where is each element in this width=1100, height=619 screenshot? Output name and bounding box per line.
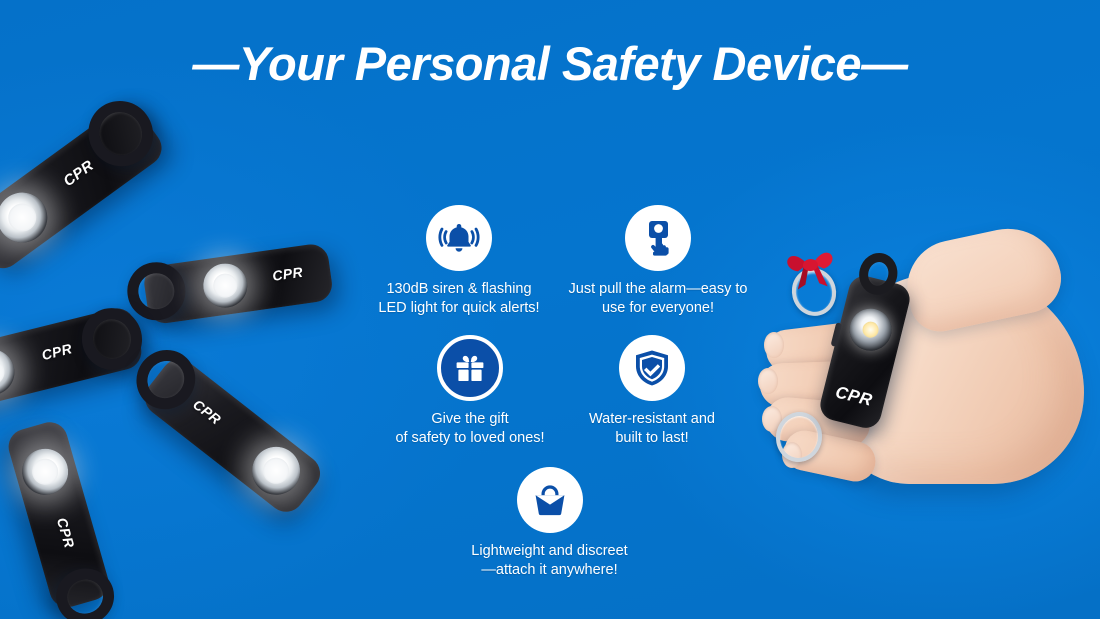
feature-caption: 130dB siren & flashing LED light for qui…	[364, 280, 554, 317]
bell-alarm-icon	[426, 205, 492, 271]
led-light	[845, 304, 896, 355]
feature-item-gift: Give the gift of safety to loved ones!	[375, 335, 565, 447]
shield-check-icon	[619, 335, 685, 401]
feature-item-siren: 130dB siren & flashing LED light for qui…	[364, 205, 554, 317]
feature-item-lightweight: Lightweight and discreet —attach it anyw…	[442, 467, 657, 579]
brand-logo: CPR	[821, 379, 886, 413]
feature-caption: Water-resistant and built to last!	[552, 410, 752, 447]
page-title: —Your Personal Safety Device—	[0, 36, 1100, 91]
feature-caption: Just pull the alarm—easy to use for ever…	[542, 280, 774, 317]
fingernail	[758, 368, 778, 394]
feature-caption: Lightweight and discreet —attach it anyw…	[442, 542, 657, 579]
gift-box-icon	[437, 335, 503, 401]
feature-caption: Give the gift of safety to loved ones!	[375, 410, 565, 447]
handbag-icon	[517, 467, 583, 533]
feature-item-water-resistant: Water-resistant and built to last!	[552, 335, 752, 447]
promo-banner: CPR CPR CPR CPR CPR —Your Persona	[0, 0, 1100, 619]
feature-list: 130dB siren & flashing LED light for qui…	[330, 205, 770, 575]
hand-press-button-icon	[625, 205, 691, 271]
hand-holding-device: CPR	[760, 222, 1100, 552]
keyring-loop	[855, 249, 902, 299]
fingernail	[764, 332, 784, 358]
gift-bow-icon	[772, 244, 850, 297]
feature-item-easy-pull: Just pull the alarm—easy to use for ever…	[542, 205, 774, 317]
